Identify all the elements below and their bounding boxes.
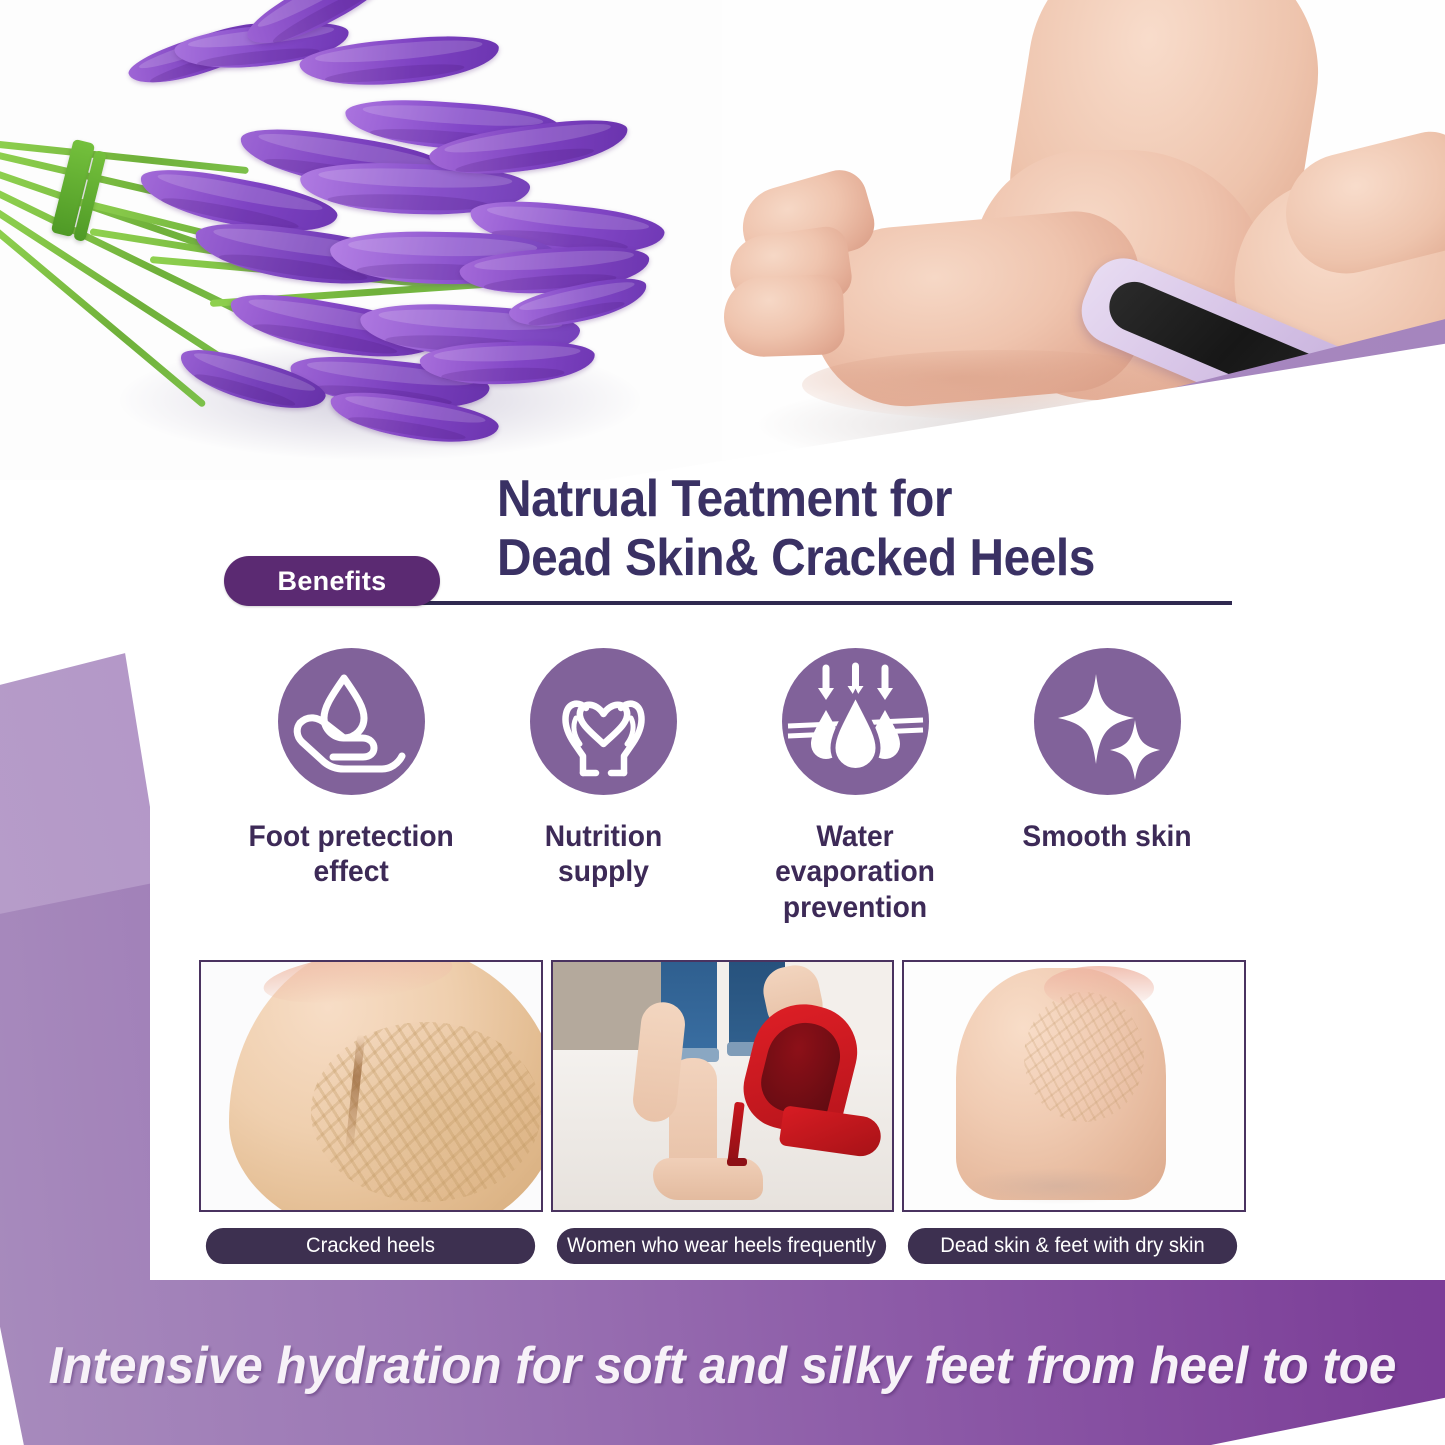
benefit-icon-circle	[278, 648, 425, 795]
headline-line-1: Natrual Teatment for	[497, 470, 1196, 529]
benefit-item-water-evaporation: Water evaporation prevention	[729, 648, 981, 948]
headline-line-2: Dead Skin& Cracked Heels	[497, 529, 1196, 588]
benefit-label: Nutrition supply	[544, 819, 661, 890]
benefit-label-line-1: Nutrition	[544, 820, 661, 853]
product-infographic: Natrual Teatment for Dead Skin& Cracked …	[0, 0, 1445, 1445]
card-dead-skin-dry-feet	[902, 960, 1246, 1212]
benefit-label-line-1: Water evaporation	[775, 820, 935, 888]
card-cracked-heels	[199, 960, 543, 1212]
sparkles-icon	[1034, 648, 1181, 795]
benefit-label-line-2: effect	[313, 855, 388, 888]
card-women-wear-heels	[551, 960, 895, 1212]
benefit-item-smooth-skin: Smooth skin	[981, 648, 1233, 948]
benefit-icon-circle	[782, 648, 929, 795]
water-droplets-down-arrows-icon	[782, 648, 929, 795]
benefit-label: Foot pretection effect	[248, 819, 453, 890]
hand-with-water-drop-icon	[278, 648, 425, 795]
benefits-list: Foot pretection effect Nutrition supp	[225, 648, 1235, 948]
benefit-icon-circle	[1034, 648, 1181, 795]
headline-divider-rule	[400, 601, 1232, 605]
use-case-photo-cards	[199, 960, 1246, 1208]
hands-holding-heart-icon	[530, 648, 677, 795]
photo-captions: Cracked heels Women who wear heels frequ…	[199, 1228, 1246, 1264]
benefit-label: Water evaporation prevention	[738, 819, 973, 925]
lavender-bouquet-photo	[0, 0, 722, 480]
benefits-badge: Benefits	[224, 556, 440, 606]
benefits-badge-label: Benefits	[278, 566, 387, 597]
caption-dead-skin-dry-feet: Dead skin & feet with dry skin	[908, 1228, 1237, 1264]
benefit-icon-circle	[530, 648, 677, 795]
benefit-label-line-1: Foot pretection	[248, 820, 453, 853]
caption-women-wear-heels: Women who wear heels frequently	[557, 1228, 886, 1264]
caption-cracked-heels: Cracked heels	[206, 1228, 535, 1264]
benefit-item-foot-protection: Foot pretection effect	[225, 648, 477, 948]
benefit-item-nutrition-supply: Nutrition supply	[477, 648, 729, 948]
benefit-label-line-1: Smooth skin	[1022, 820, 1191, 853]
benefit-label: Smooth skin	[1022, 819, 1191, 854]
bottom-tagline: Intensive hydration for soft and silky f…	[36, 1318, 1409, 1414]
benefit-label-line-2: prevention	[783, 891, 927, 924]
benefit-label-line-2: supply	[558, 855, 649, 888]
page-title: Natrual Teatment for Dead Skin& Cracked …	[497, 470, 1196, 588]
